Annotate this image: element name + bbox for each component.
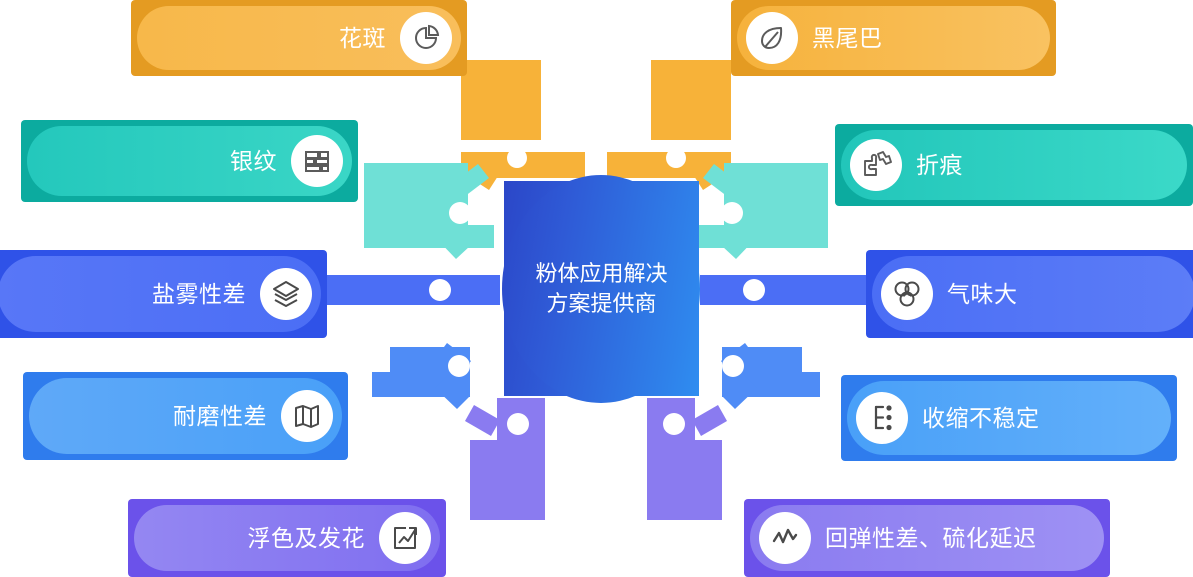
node-yinwen[interactable]: 银纹 (21, 120, 358, 202)
connector-upper-left (364, 163, 494, 259)
center-label-line1: 粉体应用解决 (535, 259, 667, 288)
connector-lower-right (721, 343, 820, 409)
node-pill: 盐雾性差 (0, 256, 321, 332)
node-label: 盐雾性差 (152, 283, 246, 306)
puzzle-icon (850, 139, 902, 191)
node-naimoxingcha[interactable]: 耐磨性差 (23, 372, 348, 460)
node-fusejifahua[interactable]: 浮色及发花 (128, 499, 446, 577)
leaf-icon (746, 12, 798, 64)
node-label: 花斑 (339, 27, 386, 50)
node-label: 银纹 (230, 150, 277, 173)
node-shousuobuwending[interactable]: 收缩不稳定 (841, 375, 1177, 461)
connector-mid-right (700, 275, 866, 305)
node-label: 收缩不稳定 (922, 407, 1040, 430)
node-pill: 回弹性差、硫化延迟 (750, 505, 1104, 571)
pie-chart-icon (400, 12, 452, 64)
trending-up-box-icon (379, 512, 431, 564)
node-pill: 黑尾巴 (737, 6, 1050, 70)
node-label: 回弹性差、硫化延迟 (825, 527, 1037, 550)
node-yanwuxingcha[interactable]: 盐雾性差 (0, 250, 327, 338)
node-pill: 花斑 (137, 6, 461, 70)
node-pill: 浮色及发花 (134, 505, 440, 571)
recycle-icon (881, 268, 933, 320)
node-pill: 气味大 (872, 256, 1193, 332)
layers-icon (260, 268, 312, 320)
line-chart-icon (759, 512, 811, 564)
node-pill: 折痕 (841, 130, 1187, 200)
node-huaban[interactable]: 花斑 (131, 0, 467, 76)
node-label: 折痕 (916, 154, 963, 177)
node-qiweida[interactable]: 气味大 (866, 250, 1193, 338)
connector-bottom-left (465, 398, 545, 520)
node-label: 浮色及发花 (248, 527, 366, 550)
connector-lower-left (372, 343, 471, 409)
node-zhehen[interactable]: 折痕 (835, 124, 1193, 206)
node-label: 气味大 (947, 283, 1018, 306)
map-icon (281, 390, 333, 442)
node-pill: 银纹 (27, 126, 352, 196)
center-label: 粉体应用解决 方案提供商 (504, 181, 699, 396)
connector-mid-left (325, 275, 500, 305)
node-label: 黑尾巴 (812, 27, 883, 50)
sitemap-icon (856, 392, 908, 444)
connector-upper-right (698, 163, 828, 259)
diagram-canvas: 粉体应用解决 方案提供商 花斑 银纹 (0, 0, 1193, 577)
node-huitanxingcha[interactable]: 回弹性差、硫化延迟 (744, 499, 1110, 577)
node-pill: 耐磨性差 (29, 378, 342, 454)
node-label: 耐磨性差 (173, 405, 267, 428)
center-node[interactable]: 粉体应用解决 方案提供商 (504, 181, 699, 396)
node-pill: 收缩不稳定 (847, 381, 1171, 455)
node-heiweiba[interactable]: 黑尾巴 (731, 0, 1056, 76)
connector-bottom-right (647, 398, 727, 520)
brick-wall-icon (291, 135, 343, 187)
center-label-line2: 方案提供商 (546, 289, 656, 318)
